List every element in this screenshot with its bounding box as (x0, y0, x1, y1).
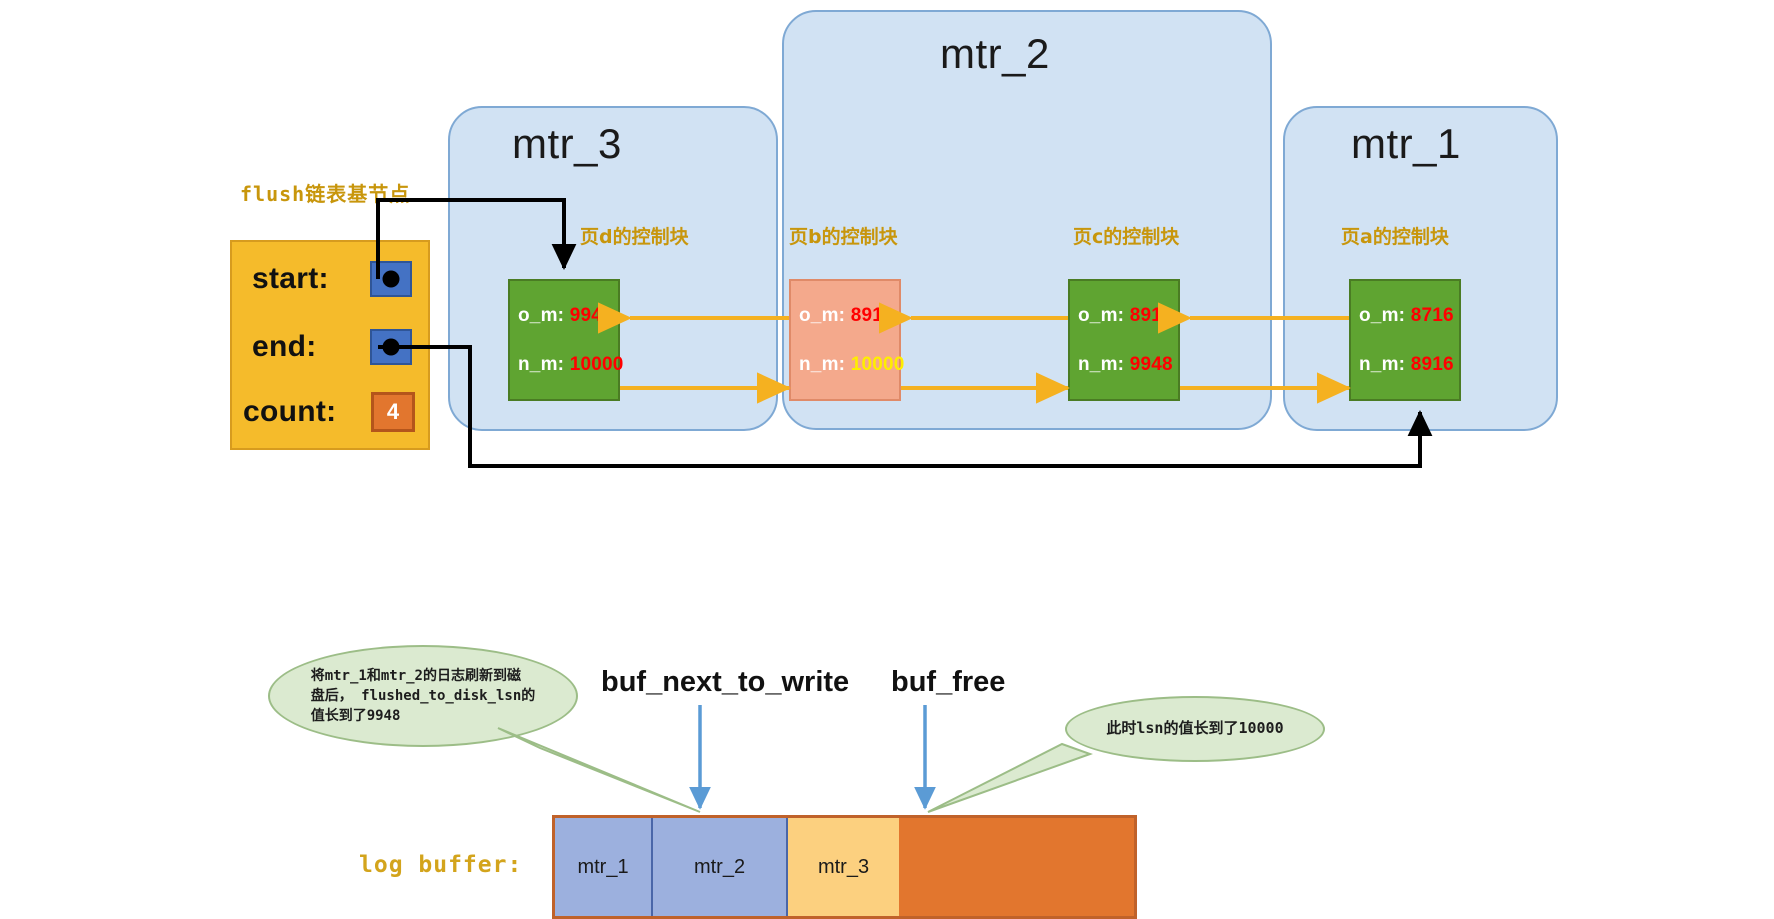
log-buffer-segment-mtr2: mtr_2 (653, 818, 788, 916)
field-value: 9948 (570, 305, 613, 326)
pointer-label-buf-free: buf_free (891, 666, 1005, 699)
control-block-field-o-m: o_m: 9948 (518, 305, 618, 327)
flush-count-label: count: (243, 395, 336, 429)
field-key: o_m: (799, 305, 845, 326)
flush-start-label: start: (252, 262, 329, 296)
field-key: n_m: (1359, 354, 1405, 375)
control-block-field-n-m: n_m: 10000 (518, 354, 618, 376)
control-block-page-a: o_m: 8716 n_m: 8916 (1349, 279, 1461, 401)
log-buffer-segment-free (899, 818, 1134, 916)
log-buffer-segment-mtr3: mtr_3 (788, 818, 899, 916)
flush-row-start: start: (252, 255, 412, 303)
field-value: 9948 (1130, 354, 1173, 375)
field-value: 8916 (851, 305, 894, 326)
log-buffer-segment-mtr1: mtr_1 (555, 818, 653, 916)
control-block-caption-page-b: 页b的控制块 (789, 222, 898, 249)
pointer-dot-icon (383, 339, 400, 356)
control-block-field-o-m: o_m: 8916 (1078, 305, 1178, 327)
callout-lsn: 此时lsn的值长到了10000 (1065, 696, 1325, 762)
control-block-page-b: o_m: 8916 n_m: 10000 (789, 279, 901, 401)
field-key: o_m: (1078, 305, 1124, 326)
control-block-field-n-m: n_m: 9948 (1078, 354, 1178, 376)
flush-end-pointer-box[interactable] (370, 329, 412, 365)
callout-text: 此时lsn的值长到了10000 (1090, 718, 1299, 740)
mtr-group-label-mtr2: mtr_2 (940, 30, 1050, 78)
control-block-field-n-m: n_m: 10000 (799, 354, 899, 376)
field-key: o_m: (518, 305, 564, 326)
log-buffer-label: log buffer: (359, 852, 522, 878)
control-block-page-d: o_m: 9948 n_m: 10000 (508, 279, 620, 401)
field-value: 8916 (1411, 354, 1454, 375)
pointer-label-buf-next-to-write: buf_next_to_write (601, 666, 849, 699)
field-key: n_m: (518, 354, 564, 375)
field-key: n_m: (799, 354, 845, 375)
flush-count-value: 4 (371, 392, 415, 432)
field-key: o_m: (1359, 305, 1405, 326)
pointer-dot-icon (383, 271, 400, 288)
flush-row-count: count: 4 (243, 390, 415, 434)
diagram-canvas: mtr_2 mtr_3 mtr_1 flush链表基节点 start: end:… (0, 0, 1774, 919)
field-key: n_m: (1078, 354, 1124, 375)
callout-flushed-to-disk-lsn: 将mtr_1和mtr_2的日志刷新到磁 盘后， flushed_to_disk_… (268, 645, 578, 747)
flush-end-label: end: (252, 330, 317, 364)
control-block-field-o-m: o_m: 8916 (799, 305, 899, 327)
callout-tail-flushed (498, 728, 700, 812)
callout-text: 将mtr_1和mtr_2的日志刷新到磁 盘后， flushed_to_disk_… (295, 666, 552, 727)
field-value: 8716 (1411, 305, 1454, 326)
control-block-caption-page-a: 页a的控制块 (1341, 222, 1449, 249)
mtr-group-label-mtr3: mtr_3 (512, 120, 622, 168)
flush-base-node-caption: flush链表基节点 (240, 178, 410, 207)
control-block-field-n-m: n_m: 8916 (1359, 354, 1459, 376)
field-value: 10000 (570, 354, 624, 375)
mtr-group-label-mtr1: mtr_1 (1351, 120, 1461, 168)
callout-tail-lsn (928, 744, 1090, 812)
flush-row-end: end: (252, 323, 412, 371)
control-block-caption-page-d: 页d的控制块 (580, 222, 689, 249)
field-value: 8916 (1130, 305, 1173, 326)
control-block-field-o-m: o_m: 8716 (1359, 305, 1459, 327)
log-buffer-bar: mtr_1 mtr_2 mtr_3 (552, 815, 1137, 919)
control-block-page-c: o_m: 8916 n_m: 9948 (1068, 279, 1180, 401)
flush-start-pointer-box[interactable] (370, 261, 412, 297)
control-block-caption-page-c: 页c的控制块 (1073, 222, 1179, 249)
field-value: 10000 (851, 354, 905, 375)
